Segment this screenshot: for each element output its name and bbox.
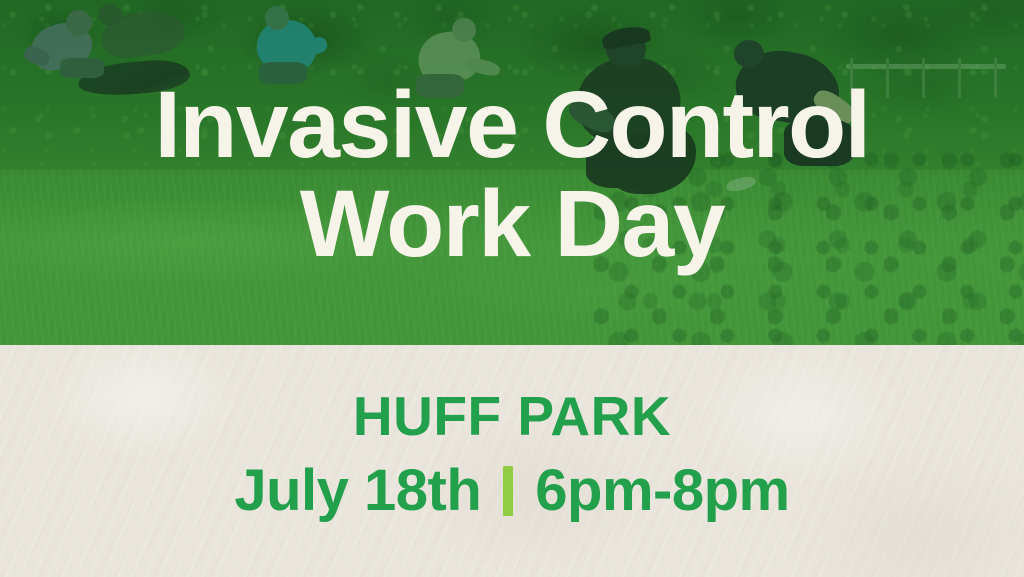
info-panel-texture bbox=[0, 345, 1024, 577]
event-time: 6pm-8pm bbox=[535, 462, 789, 520]
headline-line-1: Invasive Control bbox=[0, 76, 1024, 175]
photo-panel: Invasive Control Work Day bbox=[0, 0, 1024, 345]
event-flyer: Invasive Control Work Day HUFF PARK July… bbox=[0, 0, 1024, 577]
info-panel bbox=[0, 345, 1024, 577]
event-date: July 18th bbox=[234, 462, 481, 520]
headline-line-2: Work Day bbox=[0, 175, 1024, 274]
venue-name: HUFF PARK bbox=[0, 389, 1024, 444]
headline: Invasive Control Work Day bbox=[0, 76, 1024, 274]
date-time-row: July 18th 6pm-8pm bbox=[0, 462, 1024, 520]
separator-bar-icon bbox=[503, 466, 513, 516]
